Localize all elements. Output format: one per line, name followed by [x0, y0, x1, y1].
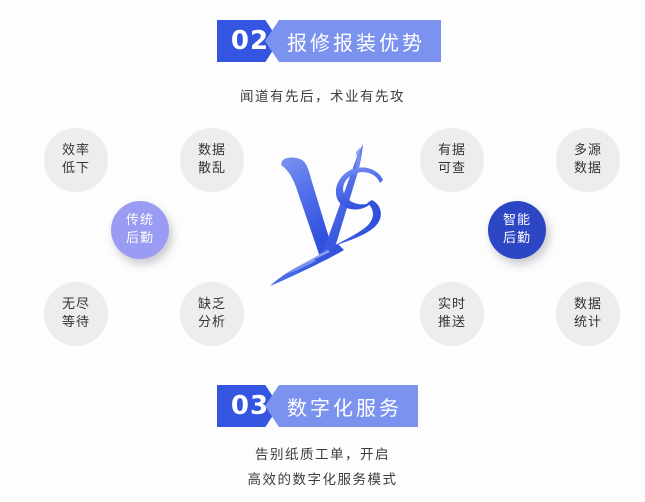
section-title-03: 数字化服务: [265, 385, 418, 427]
legacy-item-3-line1: 缺乏: [198, 296, 226, 314]
smart-item-1: 多源 数据: [556, 128, 620, 192]
legacy-label-line2: 后勤: [126, 230, 154, 248]
legacy-item-2-line2: 等待: [62, 314, 90, 332]
smart-item-3-line2: 统计: [574, 314, 602, 332]
smart-label-line1: 智能: [503, 212, 531, 230]
smart-item-1-line1: 多源: [574, 142, 602, 160]
smart-item-3: 数据 统计: [556, 282, 620, 346]
section-caption-03-line1: 告别纸质工单，开启: [0, 443, 645, 468]
legacy-item-0-line2: 低下: [62, 160, 90, 178]
legacy-item-1-line2: 散乱: [198, 160, 226, 178]
legacy-label-circle: 传统 后勤: [111, 201, 169, 259]
section-banner-02: 02 报修报装优势: [217, 20, 441, 62]
smart-item-2-line2: 推送: [438, 314, 466, 332]
smart-label-line2: 后勤: [503, 230, 531, 248]
legacy-item-3-line2: 分析: [198, 314, 226, 332]
smart-item-1-line2: 数据: [574, 160, 602, 178]
section-caption-02: 闻道有先后，术业有先攻: [0, 85, 645, 110]
legacy-item-0: 效率 低下: [44, 128, 108, 192]
smart-item-3-line1: 数据: [574, 296, 602, 314]
legacy-item-1: 数据 散乱: [180, 128, 244, 192]
legacy-item-0-line1: 效率: [62, 142, 90, 160]
vs-brush-icon: [268, 138, 398, 290]
legacy-item-3: 缺乏 分析: [180, 282, 244, 346]
smart-item-2-line1: 实时: [438, 296, 466, 314]
smart-item-0: 有据 可查: [420, 128, 484, 192]
section-banner-03: 03 数字化服务: [217, 385, 418, 427]
legacy-item-2-line1: 无尽: [62, 296, 90, 314]
smart-item-2: 实时 推送: [420, 282, 484, 346]
smart-item-0-line2: 可查: [438, 160, 466, 178]
section-title-02: 报修报装优势: [265, 20, 441, 62]
legacy-item-1-line1: 数据: [198, 142, 226, 160]
legacy-item-2: 无尽 等待: [44, 282, 108, 346]
smart-item-0-line1: 有据: [438, 142, 466, 160]
smart-label-circle: 智能 后勤: [488, 201, 546, 259]
section-caption-03: 告别纸质工单，开启 高效的数字化服务模式: [0, 443, 645, 493]
legacy-label-line1: 传统: [126, 212, 154, 230]
section-caption-03-line2: 高效的数字化服务模式: [0, 468, 645, 493]
